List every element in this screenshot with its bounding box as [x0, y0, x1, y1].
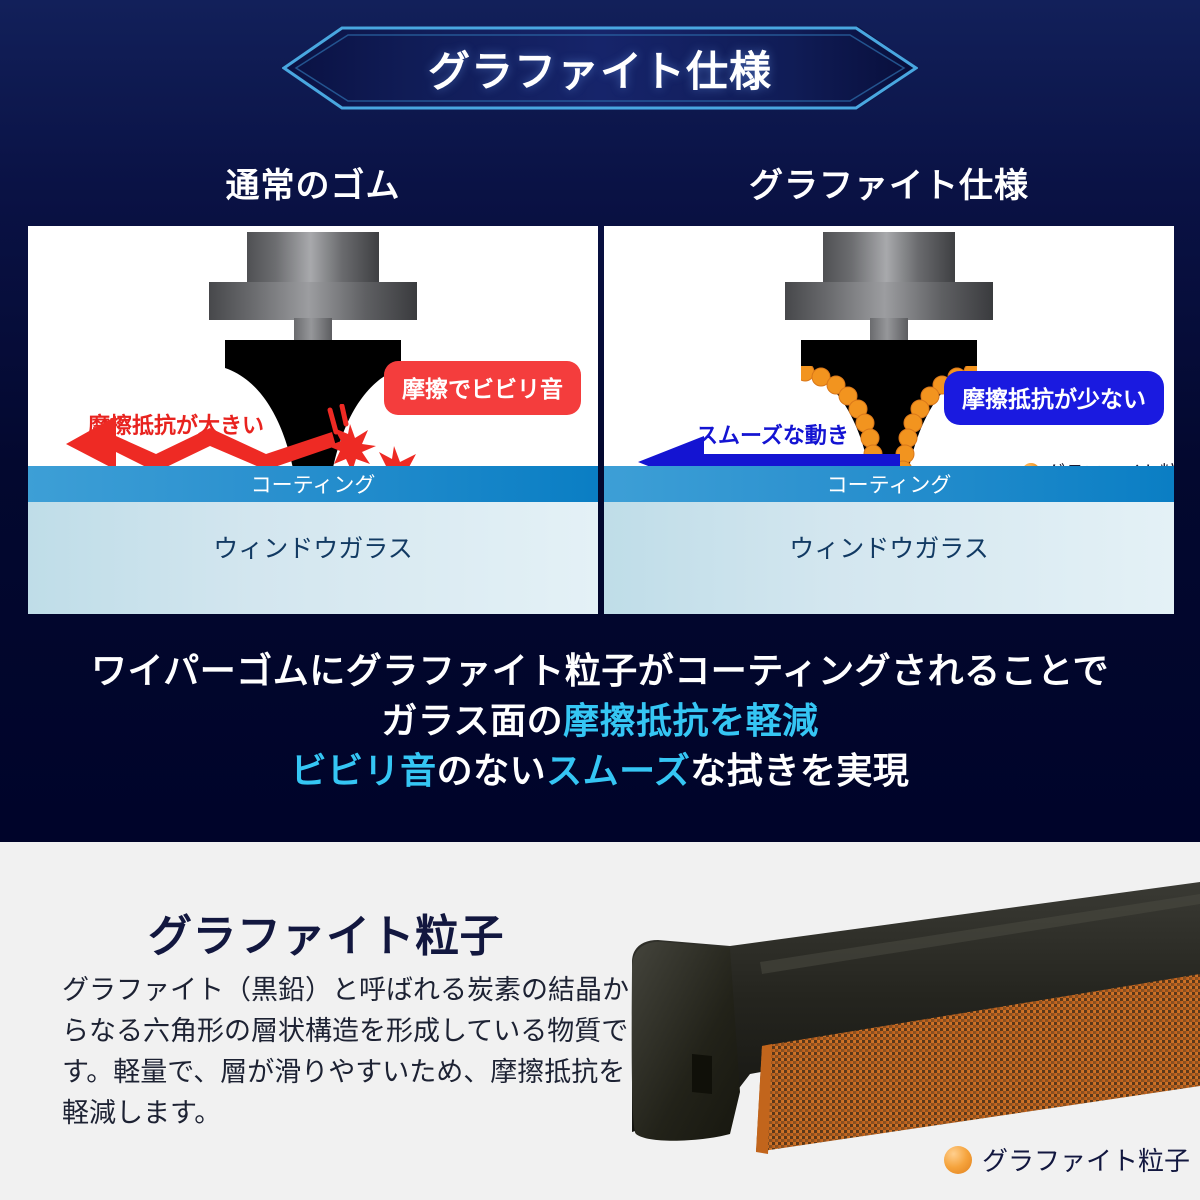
description-line-3-post: な拭きを実現: [690, 750, 909, 791]
description-line-3-mid: のない: [437, 750, 547, 791]
coating-layer-left: コーティング: [28, 466, 598, 502]
wiper-blade-top: [225, 340, 401, 368]
wiper-holder-top: [823, 232, 955, 288]
description-line-3: ビビリ音のないスムーズな拭きを実現: [0, 746, 1200, 796]
friction-zigzag-arrow-icon: [60, 402, 340, 472]
wiper-holder-flange: [209, 282, 417, 320]
page-title: グラファイト仕様: [282, 26, 918, 110]
description-line-2-highlight: 摩擦抵抗を軽減: [563, 700, 819, 741]
bottom-section: グラファイト粒子 グラファイト（黒鉛）と呼ばれる炭素の結晶からなる六角形の層状構…: [0, 842, 1200, 1200]
glass-layer-right: ウィンドウガラス: [604, 502, 1174, 614]
wiper-blade-top: [801, 340, 977, 368]
low-friction-badge: 摩擦抵抗が少ない: [944, 371, 1164, 425]
bottom-body-text: グラファイト（黒鉛）と呼ばれる炭素の結晶からなる六角形の層状構造を形成している物…: [62, 970, 642, 1134]
diagram-panel-normal-rubber: 摩擦抵抗が大きい 摩擦でビビリ音 コーティング ウィンドウガラス: [28, 226, 598, 614]
wiper-holder-flange: [785, 282, 993, 320]
diagram-panel-graphite: スムーズな動き 摩擦抵抗が少ない グラファイト粒子 コーティング ウィンドウガラ…: [604, 226, 1174, 614]
wiper-holder-top: [247, 232, 379, 288]
description-line-3-highlight-1: ビビリ音: [291, 750, 437, 791]
description-line-1: ワイパーゴムにグラファイト粒子がコーティングされることで: [0, 646, 1200, 696]
description-line-2: ガラス面の摩擦抵抗を軽減: [0, 696, 1200, 746]
column-heading-normal: 通常のゴム: [28, 158, 598, 207]
top-section: グラファイト仕様 通常のゴム グラファイト仕様 摩擦抵抗が大きい 摩擦でビビリ音: [0, 0, 1200, 842]
glass-layer-left: ウィンドウガラス: [28, 502, 598, 614]
column-heading-graphite: グラファイト仕様: [604, 158, 1174, 207]
bottom-legend-label: グラファイト粒子: [982, 1141, 1190, 1178]
bottom-graphite-legend: グラファイト粒子: [944, 1141, 1190, 1178]
coating-layer-right: コーティング: [604, 466, 1174, 502]
description-block: ワイパーゴムにグラファイト粒子がコーティングされることで ガラス面の摩擦抵抗を軽…: [0, 646, 1200, 796]
bottom-heading: グラファイト粒子: [148, 900, 504, 964]
graphite-particle-icon: [944, 1146, 972, 1174]
title-banner: グラファイト仕様: [282, 26, 918, 110]
description-line-2-pre: ガラス面の: [381, 700, 563, 741]
description-line-3-highlight-2: スムーズ: [546, 750, 690, 791]
